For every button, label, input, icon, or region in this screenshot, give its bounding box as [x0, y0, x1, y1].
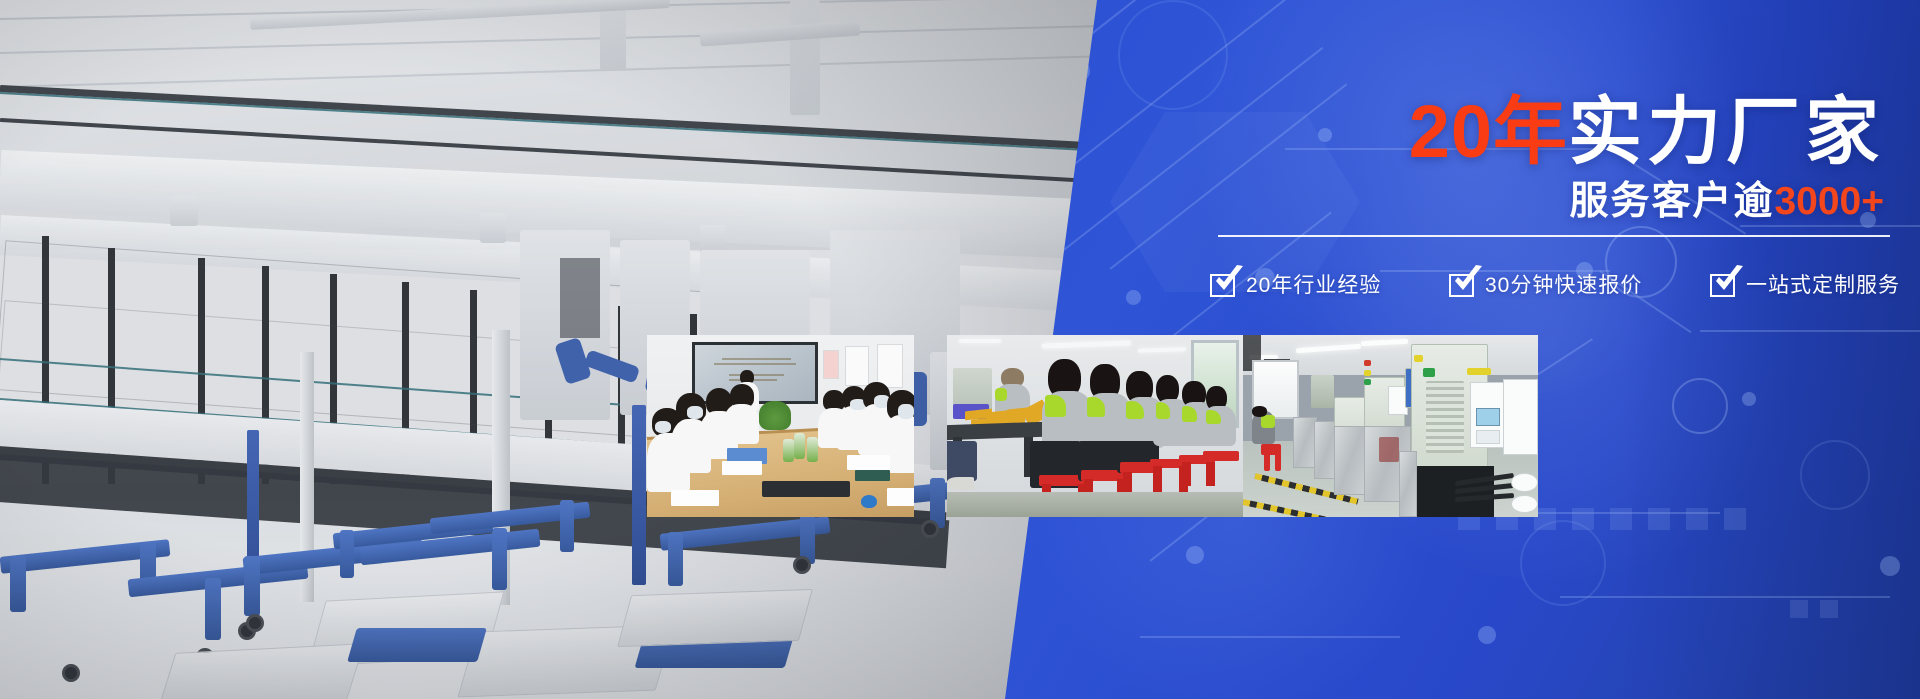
machine-base-bay [1411, 466, 1494, 517]
stool-leg [1275, 453, 1281, 471]
stack-light-green [1364, 379, 1371, 385]
assembly-line-workers-photo [947, 335, 1245, 517]
control-screen [1476, 408, 1500, 426]
wall-poster [845, 346, 869, 386]
machine-door [1503, 379, 1538, 455]
status-label [1414, 355, 1423, 362]
control-keypad [1476, 430, 1500, 445]
operator-head [1252, 406, 1267, 417]
photo-thumbnail-strip [647, 335, 1920, 517]
machine-marking [1379, 437, 1400, 462]
face-mask [687, 406, 703, 419]
water-bottle [807, 437, 818, 462]
feature-badge-custom-service: 一站式定制服务 [1710, 274, 1900, 297]
worker-sleeve [995, 388, 1007, 401]
meeting-training-room-photo [647, 335, 914, 517]
face-mask [655, 421, 671, 434]
promotional-banner: 20年实力厂家 服务客户逾3000+ 20年行业经验 30分钟快速报价 [0, 0, 1920, 699]
stool-leg [1264, 453, 1270, 471]
stack-light-yellow [1364, 370, 1371, 376]
notepad [847, 455, 890, 470]
face-mask [898, 404, 914, 419]
machine-dial [1511, 473, 1538, 491]
headline-highlight: 20年 [1409, 90, 1568, 173]
subtitle-number: 3000+ [1774, 180, 1884, 223]
content-divider [1218, 235, 1890, 237]
worker-shoe [947, 477, 974, 490]
page-title: 20年实力厂家 [1409, 95, 1884, 169]
notepad [887, 488, 914, 506]
checkbox-check-icon [1449, 274, 1474, 297]
attendee-body [724, 404, 759, 444]
tablet-device [855, 470, 890, 481]
warning-label [1467, 368, 1491, 375]
steel-cabinet [1334, 426, 1366, 495]
feature-badge-list: 20年行业经验 30分钟快速报价 一站式定制服务 [1210, 262, 1900, 308]
page-subtitle: 服务客户逾3000+ [1569, 182, 1884, 221]
subtitle-prefix: 服务客户逾 [1569, 180, 1774, 223]
keyboard [762, 481, 850, 497]
red-stool [1203, 451, 1239, 460]
computer-mouse [861, 495, 877, 508]
workshop-floor [947, 492, 1245, 517]
table-plant [759, 401, 791, 430]
status-label [1423, 368, 1435, 377]
stool-leg [1206, 462, 1215, 486]
wall-poster [877, 344, 904, 388]
notepad [722, 461, 762, 476]
feature-badge-label: 20年行业经验 [1246, 275, 1381, 296]
steel-cabinet [1399, 451, 1417, 517]
notepad [671, 490, 719, 506]
cnc-machine [1311, 375, 1335, 408]
checkbox-check-icon [1710, 274, 1735, 297]
cnc-machine-shop-photo [1243, 335, 1538, 517]
headline-rest: 实力厂家 [1568, 90, 1884, 173]
feature-badge-quote: 30分钟快速报价 [1449, 274, 1642, 297]
stool-leg [1153, 466, 1162, 491]
feature-badge-label: 一站式定制服务 [1746, 275, 1900, 296]
checkbox-check-icon [1210, 274, 1235, 297]
feature-badge-experience: 20年行业经验 [1210, 274, 1381, 297]
wall-poster [823, 350, 839, 379]
worker-pants [947, 441, 977, 481]
stool-leg [1182, 462, 1191, 486]
water-bottle [783, 439, 794, 463]
water-bottle [794, 433, 805, 458]
stack-light-red [1364, 360, 1371, 366]
worker-sleeve [1045, 395, 1066, 417]
machine-vents [1426, 381, 1464, 454]
feature-badge-label: 30分钟快速报价 [1485, 275, 1642, 296]
ceiling-light [959, 339, 1001, 343]
operator-vest [1261, 415, 1276, 428]
